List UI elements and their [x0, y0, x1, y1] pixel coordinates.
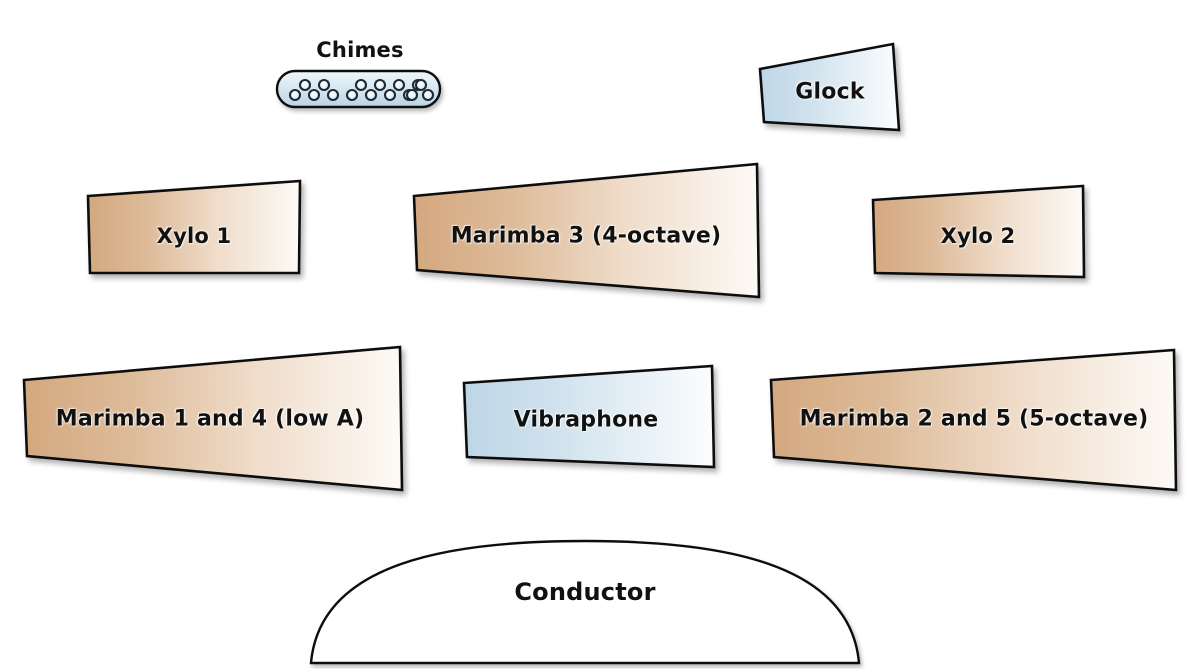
marimba-3-body — [414, 164, 759, 297]
marimba-1-and-4-body — [24, 347, 402, 490]
instrument-chimes[interactable] — [277, 71, 440, 107]
vibraphone-body — [464, 366, 714, 467]
stage-canvas — [0, 0, 1200, 669]
chime-tube — [366, 90, 376, 100]
stage-diagram: Chimes Glock Xylo 1 Marimba 3 (4-octave)… — [0, 0, 1200, 669]
instrument-xylo-2[interactable] — [873, 186, 1084, 277]
instrument-marimba-2-and-5[interactable] — [771, 350, 1176, 490]
marimba-2-and-5-body — [771, 350, 1176, 490]
xylo-1-body — [88, 181, 300, 273]
conductor-body — [311, 541, 859, 663]
instrument-conductor[interactable] — [311, 541, 859, 663]
chime-tube — [423, 90, 433, 100]
glock-body — [760, 44, 899, 130]
instrument-vibraphone[interactable] — [464, 366, 714, 467]
chime-tube — [385, 90, 395, 100]
chimes-title-label: Chimes — [316, 38, 403, 62]
instrument-xylo-1[interactable] — [88, 181, 300, 273]
chime-tube — [290, 90, 300, 100]
chime-tube — [356, 80, 366, 90]
chime-tube — [319, 80, 329, 90]
chime-tube — [375, 80, 385, 90]
chime-tube — [416, 80, 426, 90]
chime-tube — [407, 90, 417, 100]
instrument-glock[interactable] — [760, 44, 899, 130]
chime-tube — [394, 80, 404, 90]
chime-tube — [347, 90, 357, 100]
chime-tube — [328, 90, 338, 100]
chime-tube — [300, 80, 310, 90]
instrument-marimba-3[interactable] — [414, 164, 759, 297]
chime-tube — [309, 90, 319, 100]
instrument-marimba-1-and-4[interactable] — [24, 347, 402, 490]
xylo-2-body — [873, 186, 1084, 277]
